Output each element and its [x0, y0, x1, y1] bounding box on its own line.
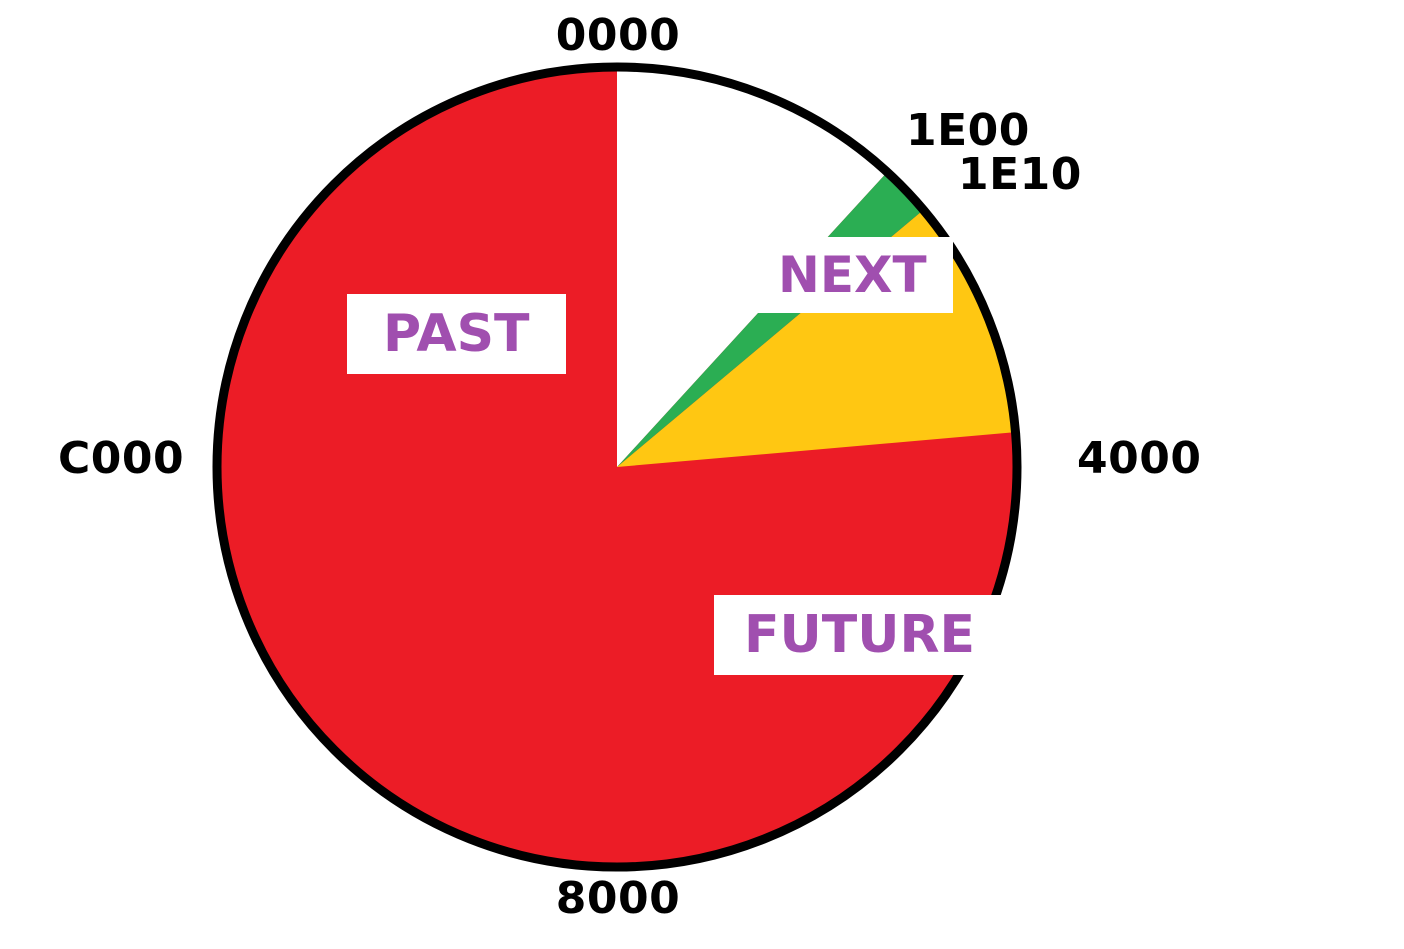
address-space-wheel-diagram: 0000 1E00 1E10 4000 8000 C000 PAST NEXT …	[0, 0, 1404, 949]
tick-label-0000: 0000	[0, 14, 1236, 58]
tick-label-8000: 8000	[0, 877, 1236, 921]
region-label-past: PAST	[347, 294, 566, 374]
tick-label-1E10: 1E10	[958, 153, 1082, 197]
tick-label-1E00: 1E00	[906, 109, 1030, 153]
region-label-future: FUTURE	[714, 595, 1005, 675]
region-label-next: NEXT	[752, 237, 953, 313]
tick-label-4000: 4000	[1077, 437, 1201, 481]
tick-label-C000: C000	[58, 437, 184, 481]
